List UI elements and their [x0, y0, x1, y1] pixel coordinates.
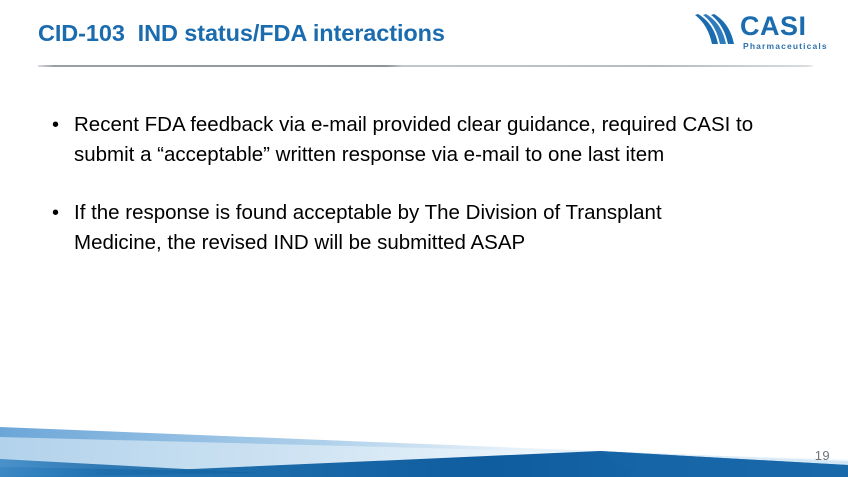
page-number: 19	[815, 448, 830, 463]
bullet-text: If the response is found acceptable by T…	[74, 198, 754, 258]
casi-logo: CASI Pharmaceuticals	[694, 10, 844, 60]
list-item: • If the response is found acceptable by…	[48, 198, 788, 258]
bullet-marker-icon: •	[48, 110, 74, 140]
logo-tagline: Pharmaceuticals	[743, 41, 828, 51]
slide-canvas: CID-103 IND status/FDA interactions CASI…	[0, 0, 848, 477]
page-title: CID-103 IND status/FDA interactions	[38, 20, 445, 47]
bullet-text: Recent FDA feedback via e-mail provided …	[74, 110, 774, 170]
logo-wordmark: CASI	[740, 11, 807, 41]
list-item: • Recent FDA feedback via e-mail provide…	[48, 110, 788, 170]
bullet-marker-icon: •	[48, 198, 74, 228]
footer-wave-graphic	[0, 415, 848, 477]
content-body: • Recent FDA feedback via e-mail provide…	[48, 110, 788, 286]
casi-wave-icon	[694, 12, 740, 46]
title-divider	[38, 65, 813, 67]
